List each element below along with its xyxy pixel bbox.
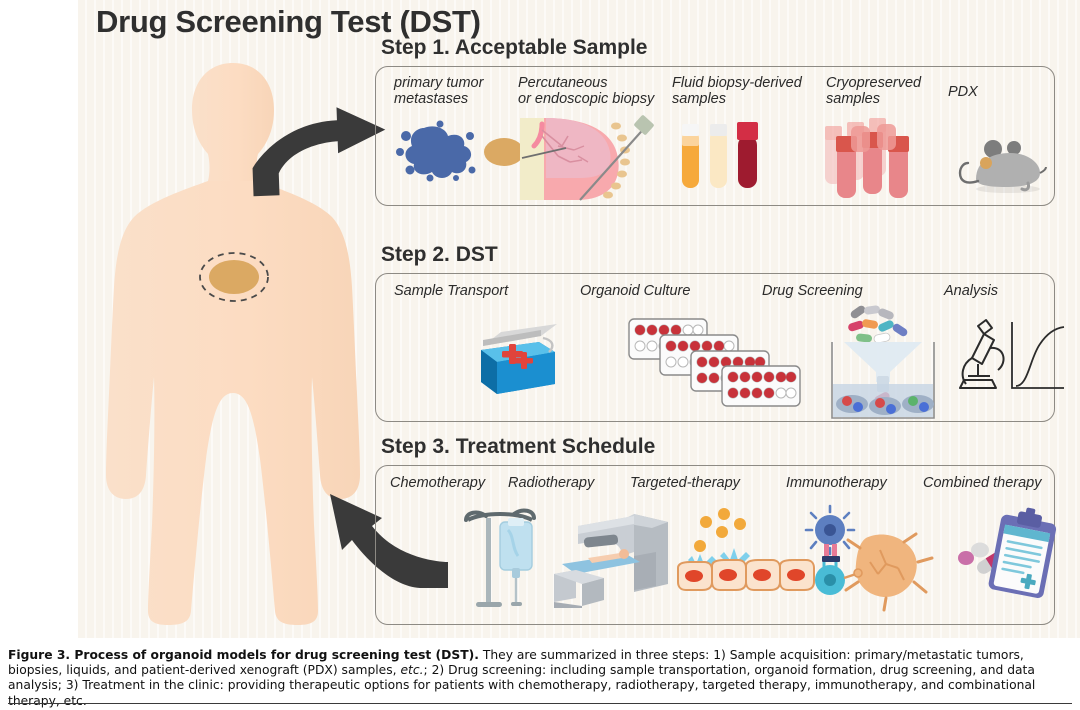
sample-tubes-icon	[678, 122, 768, 194]
caption-rule	[8, 703, 1072, 704]
cryovials-icon	[823, 118, 933, 202]
step1-label-pdx: PDX	[948, 85, 1008, 101]
caption-line2-a: liquids, and patient-derived xenograft (…	[66, 663, 400, 677]
microscope-curve-icon	[956, 318, 1066, 394]
tumor-metastases-icon	[394, 122, 524, 184]
step2-label-organoid-culture: Organoid Culture	[580, 284, 740, 300]
step3-label-targeted-therapy: Targeted-therapy	[630, 476, 780, 492]
linear-accelerator-icon	[548, 512, 674, 608]
arrow-body-to-step1	[226, 110, 386, 200]
step2-label-sample-transport: Sample Transport	[394, 284, 554, 300]
step2-label-analysis: Analysis	[944, 284, 1044, 300]
step2-title: Step 2. DST	[381, 243, 498, 267]
step1-label-primary-tumor: primary tumor metastases	[394, 76, 512, 107]
step3-label-combined-therapy: Combined therapy	[923, 476, 1063, 492]
figure-panel: Drug Screening Test (DST)	[78, 0, 1080, 638]
iv-drip-icon	[456, 506, 550, 610]
mouse-icon	[956, 135, 1048, 195]
step3-label-immunotherapy: Immunotherapy	[786, 476, 926, 492]
cooler-box-icon	[471, 320, 563, 402]
step2-label-drug-screening: Drug Screening	[762, 284, 912, 300]
figure-title: Drug Screening Test (DST)	[96, 4, 481, 40]
targeted-cells-icon	[674, 508, 814, 594]
caption-figure-label: Figure 3. Process of organoid models for…	[8, 648, 479, 662]
tumor-marker-fill	[209, 260, 259, 294]
step1-label-fluid-biopsy: Fluid biopsy-derived samples	[672, 76, 822, 107]
well-plates-icon	[628, 318, 808, 408]
step3-title: Step 3. Treatment Schedule	[381, 435, 655, 459]
step1-label-percutaneous-biopsy: Percutaneous or endoscopic biopsy	[518, 76, 678, 107]
funnel-beaker-icon	[830, 306, 936, 420]
step3-label-radiotherapy: Radiotherapy	[508, 476, 638, 492]
caption-etc: etc.	[400, 663, 423, 677]
lung-biopsy-icon	[518, 116, 668, 200]
figure-caption: Figure 3. Process of organoid models for…	[8, 648, 1072, 709]
step1-label-cryopreserved: Cryopreserved samples	[826, 76, 938, 107]
clipboard-pills-icon	[954, 506, 1058, 606]
immune-cells-tumor-icon	[808, 508, 948, 612]
step3-label-chemotherapy: Chemotherapy	[390, 476, 520, 492]
step1-title: Step 1. Acceptable Sample	[381, 36, 648, 60]
